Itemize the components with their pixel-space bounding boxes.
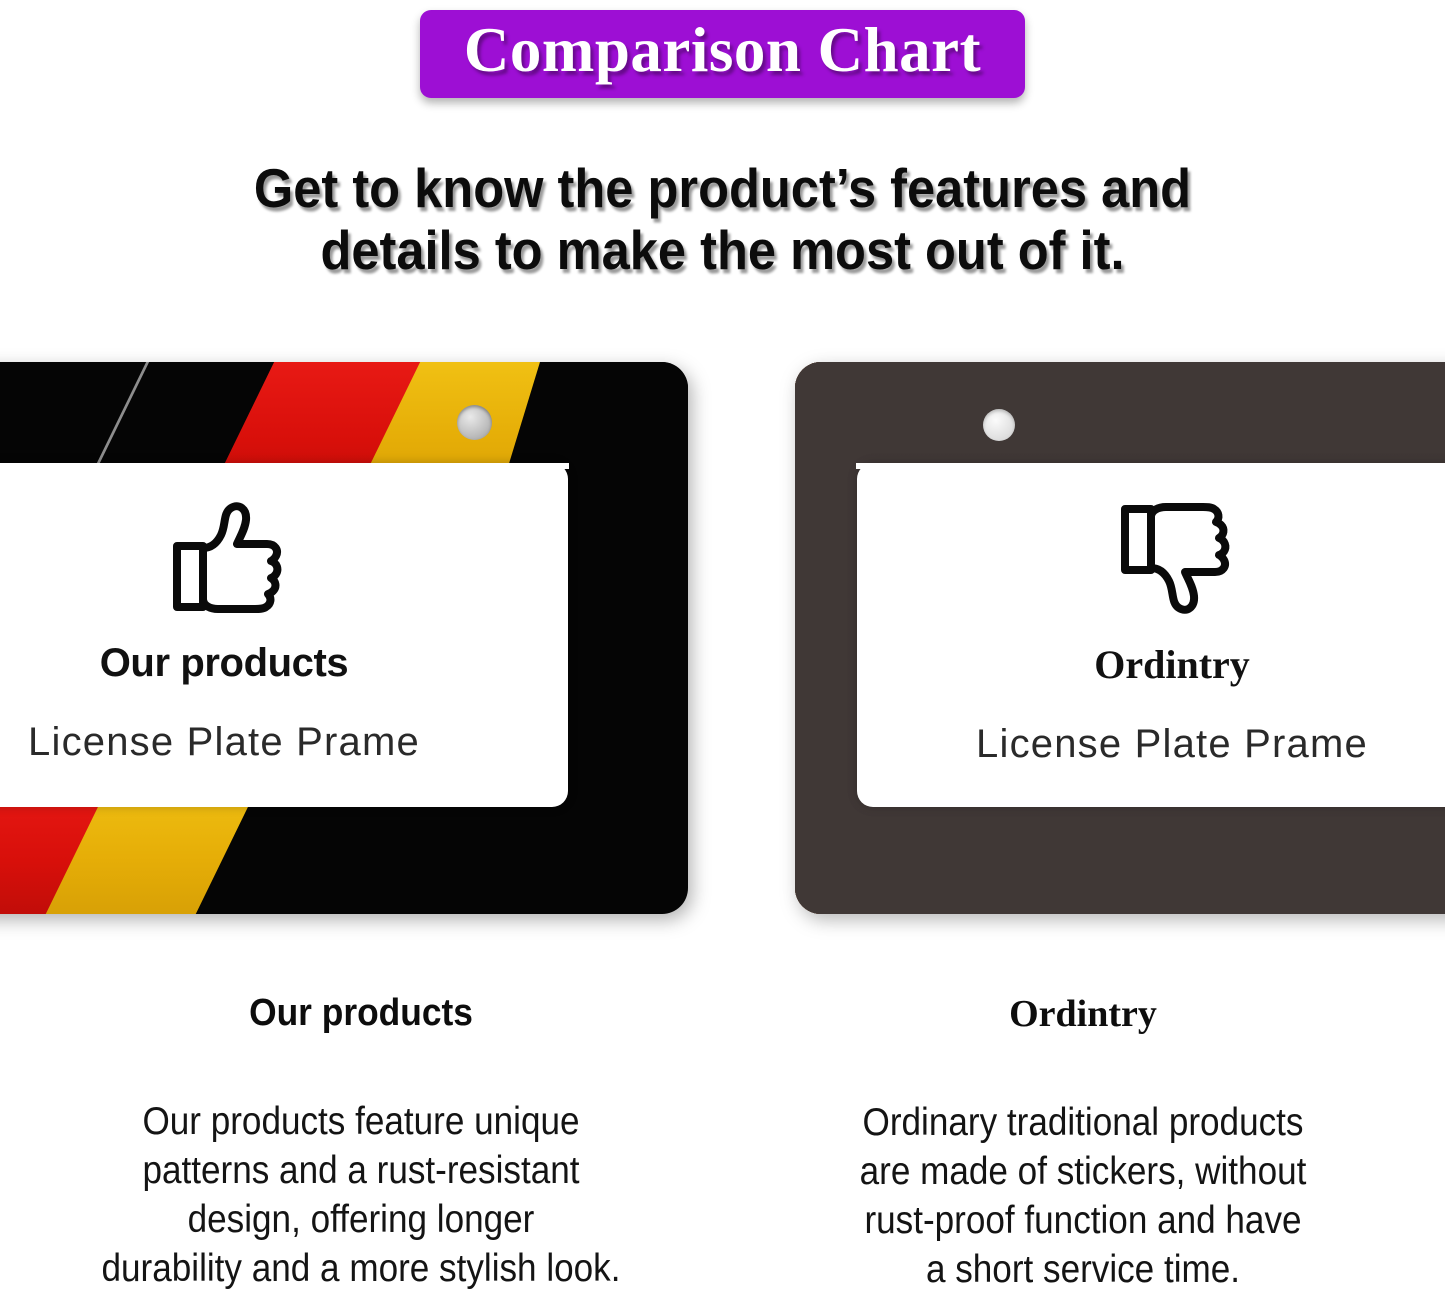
our-product-frame-image: Our products License Plate Prame <box>0 362 688 914</box>
ordinary-product-plate-window: Ordintry License Plate Prame <box>857 463 1445 807</box>
comparison-chart-page: Comparison Chart Get to know the product… <box>0 0 1445 1314</box>
title-banner-container: Comparison Chart <box>0 10 1445 98</box>
product-frames-row: Our products License Plate Prame Ordintr… <box>0 362 1445 914</box>
plate-content: Our products License Plate Prame <box>0 463 568 765</box>
mounting-hole-icon <box>983 409 1015 441</box>
page-title: Comparison Chart <box>464 19 981 82</box>
title-banner: Comparison Chart <box>420 10 1025 98</box>
ordinary-product-description-text: Ordinary traditional products are made o… <box>801 1098 1364 1295</box>
our-product-description-column: Our products Our products feature unique… <box>0 992 722 1314</box>
mounting-hole-icon <box>457 405 492 440</box>
ordinary-product-plate-subheading: License Plate Prame <box>857 722 1445 767</box>
thumbs-down-icon <box>1111 499 1233 617</box>
our-product-section-heading: Our products <box>70 992 652 1035</box>
descriptions-row: Our products Our products feature unique… <box>0 992 1445 1314</box>
our-product-plate-subheading: License Plate Prame <box>0 720 568 765</box>
ordinary-product-section-heading: Ordintry <box>770 992 1396 1036</box>
subtitle-line-2: details to make the most out of it. <box>58 220 1387 282</box>
thumbs-up-icon <box>163 499 285 617</box>
subtitle: Get to know the product’s features and d… <box>58 158 1387 281</box>
ordinary-product-frame-image: Ordintry License Plate Prame <box>795 362 1445 914</box>
our-product-description-text: Our products feature unique patterns and… <box>79 1097 642 1294</box>
ordinary-product-plate-heading: Ordintry <box>857 641 1445 688</box>
subtitle-line-1: Get to know the product’s features and <box>58 158 1387 220</box>
our-product-plate-heading: Our products <box>0 641 568 686</box>
plate-content: Ordintry License Plate Prame <box>857 463 1445 767</box>
ordinary-product-description-column: Ordintry Ordinary traditional products a… <box>722 992 1444 1314</box>
our-product-plate-window: Our products License Plate Prame <box>0 463 568 807</box>
